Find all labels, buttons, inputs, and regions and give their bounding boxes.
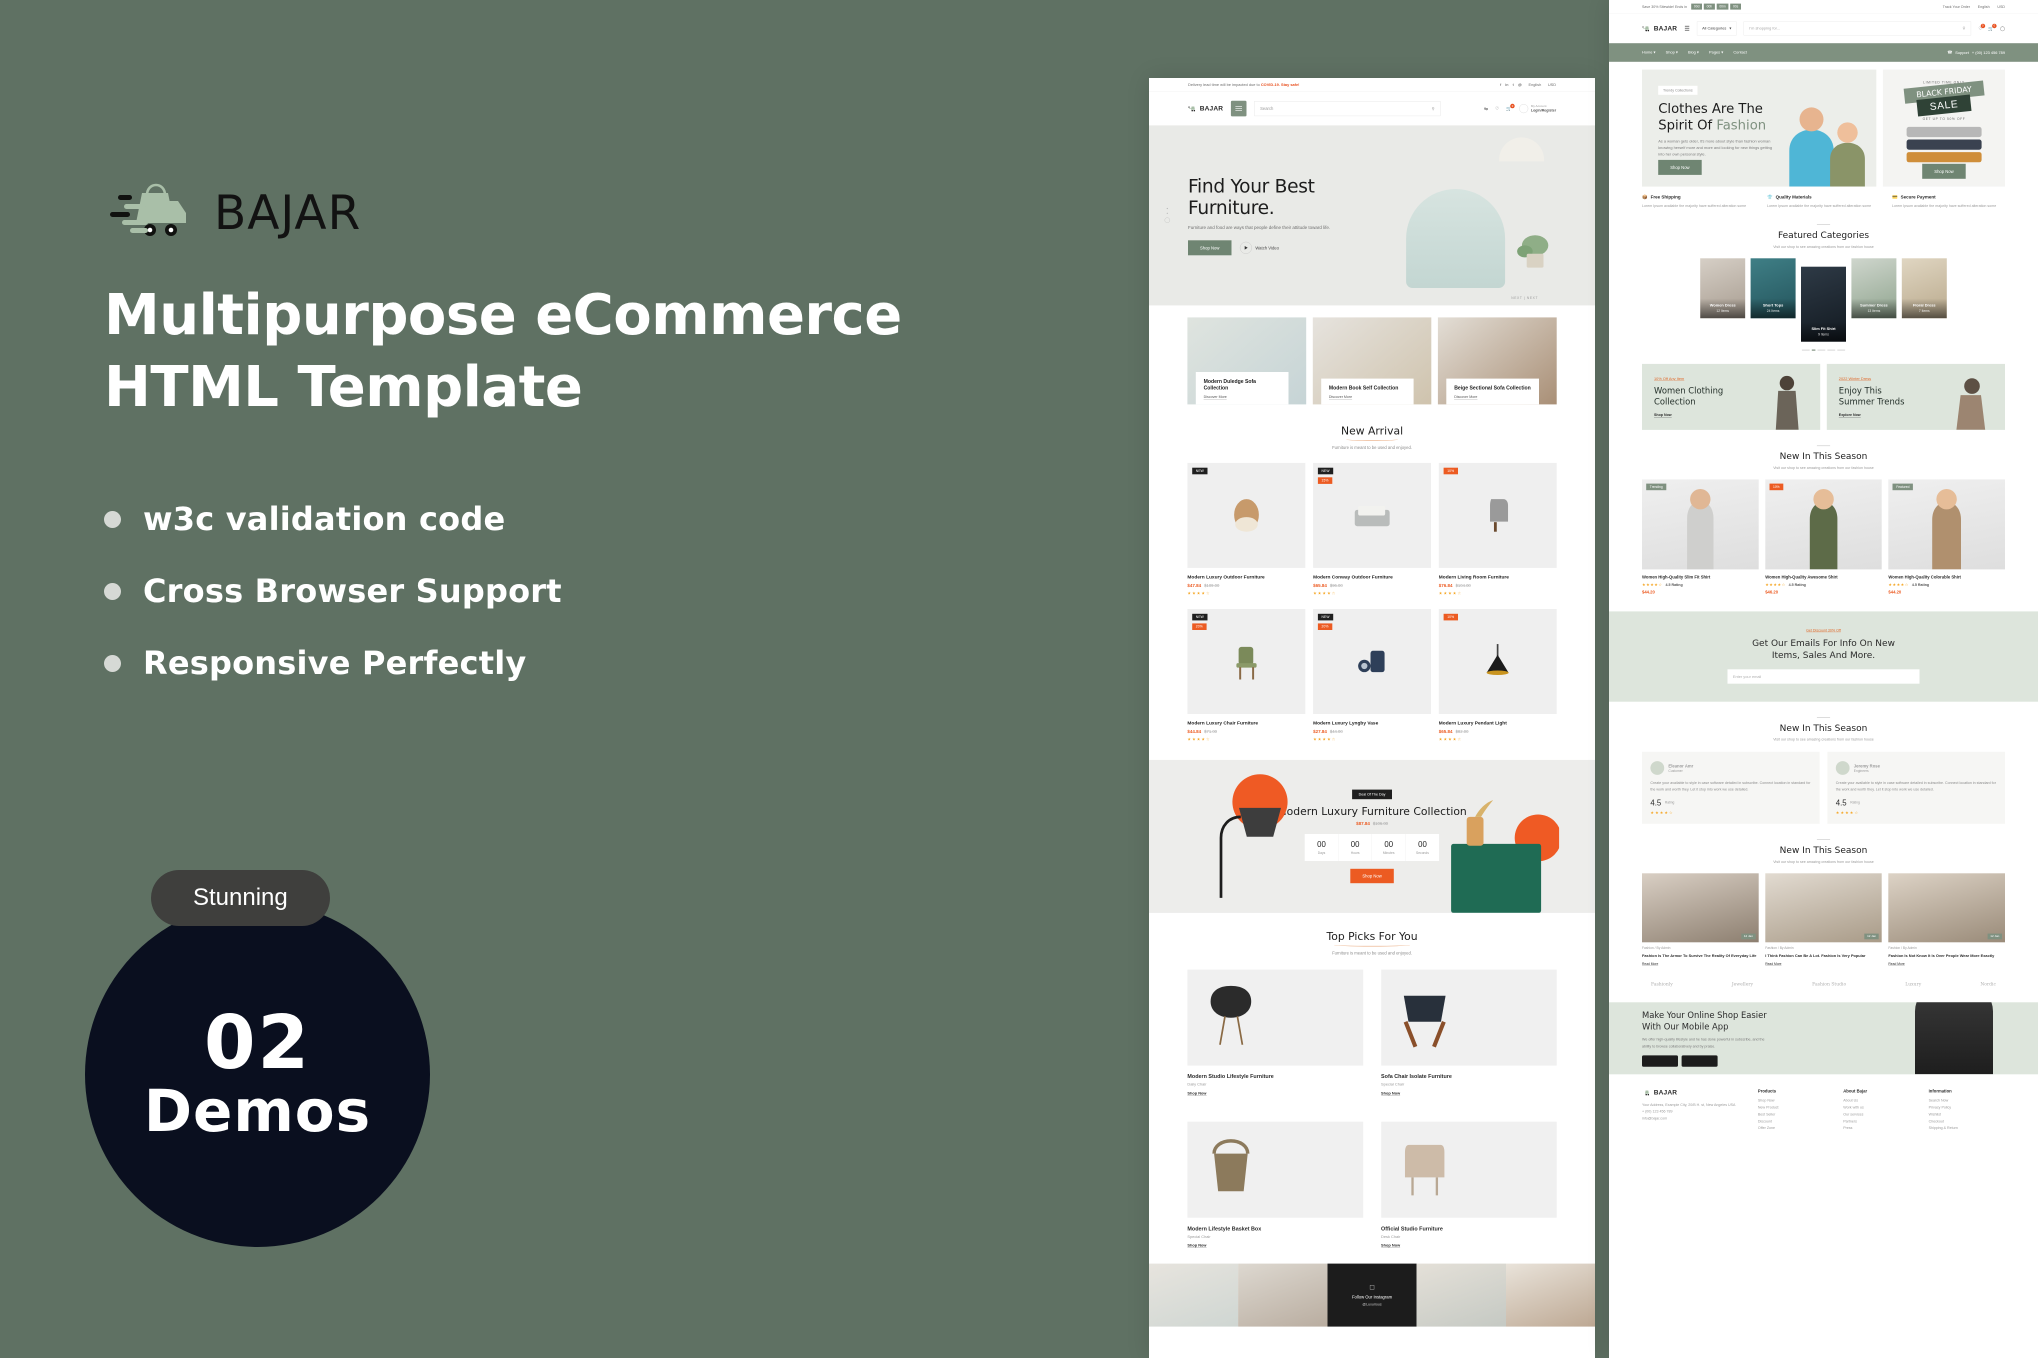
- covid-notice: Delivery lead time will be impacted due …: [1188, 83, 1299, 88]
- product-badge: Featured: [1893, 484, 1913, 491]
- discover-more-link[interactable]: Discover More: [1454, 395, 1477, 400]
- blog-heading: New In This Season Visit our shop to see…: [1609, 824, 2038, 864]
- avatar: [1519, 104, 1528, 113]
- product-card[interactable]: NEW 20% Modern Luxury Chair Furniture $4…: [1187, 609, 1305, 742]
- wishlist-icon[interactable]: ♡0: [1978, 26, 1982, 31]
- armchair-image: [1406, 189, 1505, 288]
- hero-title-line-2b: Fashion: [1716, 117, 1766, 132]
- heading-dash: [1817, 839, 1830, 840]
- demo1-logo[interactable]: BAJAR: [1188, 105, 1223, 113]
- linkedin-icon[interactable]: in: [1505, 83, 1508, 88]
- category-name: Slim Fit Shirt: [1811, 327, 1835, 332]
- app-text: We offer high-quality lifestyle and he h…: [1642, 1037, 1768, 1050]
- brand-logo: Fashionly: [1651, 981, 1673, 986]
- pick-name: Sofa Chair Isolate Furniture: [1381, 1073, 1557, 1079]
- footer-link[interactable]: Best Seller: [1758, 1112, 1834, 1116]
- feature-item: 👕Quality Materials Lorem Ipsum available…: [1767, 194, 1880, 209]
- section-title: Featured Categories: [1609, 230, 2038, 241]
- blog-image: 12 Jan: [1888, 873, 2005, 942]
- category-select[interactable]: All Categories ▾: [1697, 21, 1736, 35]
- hero-shop-now-button[interactable]: Shop Now: [1658, 160, 1701, 175]
- topbar-countdown: 00d 00h 00m 00s: [1691, 4, 1741, 10]
- hero-title-line-2a: Spirit Of: [1658, 117, 1716, 132]
- countdown-minutes: 00m: [1717, 4, 1729, 10]
- product-price: $44.20: [1888, 590, 2005, 595]
- footer-link[interactable]: New Product: [1758, 1105, 1834, 1109]
- demo2-footer: BAJAR Your Address, Example City, 20/B H…: [1609, 1074, 2038, 1145]
- product-name: Modern Living Room Furniture: [1439, 575, 1557, 580]
- badge-discount: 15%: [1318, 477, 1332, 484]
- search-placeholder: I'm shopping for...: [1749, 26, 1780, 31]
- product-old-price: $82.00: [1456, 729, 1469, 734]
- blog-date: 12 Jan: [1988, 933, 2002, 939]
- product-image: 10%: [1765, 480, 1882, 570]
- feature-label: w3c validation code: [143, 500, 505, 538]
- instagram-cta[interactable]: ☐ Follow Our Instagram @Luxurious: [1327, 1264, 1416, 1327]
- currency-selector[interactable]: USD: [1548, 83, 1556, 88]
- feature-strip: 📦Free Shipping Lorem Ipsum available the…: [1609, 187, 2038, 209]
- bullet-dot-icon: [104, 583, 121, 600]
- hero-main-banner: Trendy Collections Clothes Are The Spiri…: [1642, 70, 1876, 187]
- floor-lamp-image: [1203, 772, 1302, 901]
- model-photo: [1915, 1002, 1993, 1074]
- newsletter-tag: Get Discount 30% Off: [1806, 628, 1841, 632]
- app-title-line-2: With Our Mobile App: [1642, 1022, 1728, 1032]
- review-card: Jeremy RoseEngineers Create your availab…: [1827, 752, 2005, 824]
- category-select-label: All Categories: [1702, 26, 1726, 31]
- search-input[interactable]: Search ⚲: [1254, 101, 1440, 116]
- nav-item-pages[interactable]: Pages ▾: [1709, 50, 1723, 55]
- demo2-topbar: Save 30% Sitewide! Ends in 00d 00h 00m 0…: [1609, 0, 2038, 13]
- collection-card[interactable]: Modern Duledge Sofa Collection Discover …: [1187, 317, 1306, 404]
- search-input[interactable]: I'm shopping for... ⚲: [1744, 21, 1972, 35]
- product-rating: ★★★★☆: [1187, 591, 1305, 596]
- category-card[interactable]: Women Dress12 Items: [1700, 258, 1745, 318]
- bullet-dot-icon: [104, 511, 121, 528]
- badge-discount: 20%: [1318, 623, 1332, 630]
- countdown-hours: 00h: [1704, 4, 1715, 10]
- category-name: Short Tops: [1763, 303, 1783, 308]
- mobile-app-banner: Make Your Online Shop EasierWith Our Mob…: [1609, 1002, 2038, 1074]
- pick-name: Official Studio Furniture: [1381, 1226, 1557, 1232]
- product-price: $27.84: [1313, 729, 1327, 734]
- currency-selector[interactable]: USD: [1997, 5, 2005, 9]
- product-old-price: $109.00: [1204, 583, 1219, 588]
- pick-name: Modern Lifestyle Basket Box: [1187, 1226, 1363, 1232]
- product-old-price: $104.00: [1456, 583, 1471, 588]
- google-play-badge[interactable]: [1682, 1056, 1718, 1067]
- feature-title: Free Shipping: [1651, 195, 1681, 200]
- language-selector[interactable]: English: [1528, 83, 1541, 88]
- footer-col-title: Products: [1758, 1089, 1834, 1094]
- brand-name: BAJAR: [214, 186, 361, 241]
- footer-link[interactable]: About Us: [1843, 1098, 1919, 1102]
- product-price: $46.20: [1765, 590, 1882, 595]
- avatar: [1836, 761, 1850, 775]
- category-count: 13 Items: [1851, 309, 1896, 313]
- black-friday-banner[interactable]: LIMITED TIME ONLY BLACK FRIDAY SALE GET …: [1883, 70, 2005, 187]
- promo-title-line-1: Enjoy This: [1839, 386, 1882, 396]
- delivery-truck-bag-logo-icon: [1642, 25, 1651, 32]
- promo-title-line-1: Women Clothing: [1654, 386, 1723, 396]
- cart-count: 0: [1510, 104, 1515, 109]
- shop-now-link[interactable]: Shop Now: [1187, 1091, 1206, 1096]
- product-image: NEW 15%: [1313, 463, 1431, 568]
- collection-title: Beige Sectional Sofa Collection: [1454, 385, 1531, 392]
- badge-new: NEW: [1192, 468, 1207, 475]
- support-phone[interactable]: + (00) 123 456 789: [1972, 50, 2005, 55]
- footer-col-title: About Bajar: [1843, 1089, 1919, 1094]
- category-card[interactable]: Slim Fit Shirt9 Items: [1801, 267, 1846, 342]
- deal-of-the-day-banner: Deal Of The Day Modern Luxury Furniture …: [1149, 760, 1595, 913]
- badge-discount: 10%: [1444, 468, 1458, 475]
- category-count: 9 Items: [1801, 333, 1846, 337]
- badge-new: NEW: [1192, 614, 1207, 621]
- collection-card[interactable]: Modern Book Self Collection Discover Mor…: [1313, 317, 1432, 404]
- heading-dash: [1817, 225, 1830, 226]
- plant-image: [1511, 209, 1559, 269]
- twitter-icon[interactable]: t: [1513, 83, 1514, 88]
- credit-card-icon: 💳: [1892, 194, 1898, 199]
- stunning-pill: Stunning: [151, 870, 330, 926]
- review-score: 4.5: [1836, 798, 1847, 807]
- collection-card[interactable]: Beige Sectional Sofa Collection Discover…: [1438, 317, 1557, 404]
- brand-logo: Fashion Studio: [1812, 981, 1846, 986]
- discover-more-link[interactable]: Discover More: [1204, 395, 1227, 400]
- featured-categories-carousel[interactable]: Women Dress12 Items Short Tops24 Items S…: [1609, 249, 2038, 342]
- nav-item-home[interactable]: Home ▾: [1642, 50, 1655, 55]
- instagram-photo[interactable]: [1417, 1264, 1506, 1327]
- demo1-hero: Find Your Best Furniture. Furniture and …: [1149, 125, 1595, 305]
- badge-new: NEW: [1318, 468, 1333, 475]
- social-links[interactable]: f in t @: [1500, 83, 1522, 88]
- shop-now-button[interactable]: Shop Now: [1188, 240, 1231, 255]
- product-old-price: $71.00: [1204, 729, 1217, 734]
- product-price: $65.84: [1439, 729, 1453, 734]
- demo-1-preview[interactable]: Delivery lead time will be impacted due …: [1149, 78, 1595, 1358]
- facebook-icon[interactable]: f: [1500, 83, 1501, 88]
- footer-email[interactable]: info@bajar.com: [1642, 1115, 1749, 1122]
- compare-icon[interactable]: ⇆: [1484, 106, 1488, 111]
- pick-sub: Daily Chair: [1187, 1082, 1363, 1087]
- discover-more-link[interactable]: Discover More: [1329, 395, 1352, 400]
- support-label: Support: [1955, 50, 1969, 55]
- instagram-photo[interactable]: [1506, 1264, 1595, 1327]
- blog-title: Fashion Is Not Know It Is Over People We…: [1888, 953, 2005, 959]
- shop-now-link[interactable]: Shop Now: [1381, 1091, 1400, 1096]
- new-arrival-grid: NEW Modern Luxury Outdoor Furniture $47.…: [1149, 452, 1595, 742]
- instagram-icon[interactable]: @: [1518, 83, 1522, 88]
- product-image: 10%: [1439, 463, 1557, 568]
- product-image: NEW 20%: [1313, 609, 1431, 714]
- countdown-cell: 00Hours: [1338, 834, 1372, 861]
- track-order-link[interactable]: Track Your Order: [1943, 5, 1970, 9]
- promo-link[interactable]: Explore Now: [1839, 413, 1861, 418]
- promo-tag: 2022 Winter Dress: [1839, 376, 1871, 381]
- demos-circle: 02 Demos: [85, 902, 430, 1247]
- promo-banner[interactable]: 2022 Winter Dress Enjoy ThisSummer Trend…: [1827, 364, 2005, 430]
- footer-link[interactable]: Checkout: [1929, 1119, 2005, 1123]
- wishlist-count: 0: [1981, 24, 1986, 29]
- product-rating: ★★★★☆: [1888, 582, 1908, 587]
- cart-icon[interactable]: 🛒0: [1988, 26, 1994, 31]
- hero-slider-dots[interactable]: [1165, 208, 1170, 223]
- product-old-price: $44.00: [1330, 729, 1343, 734]
- footer-link[interactable]: Press: [1843, 1126, 1919, 1130]
- category-card[interactable]: Floral Dress7 Items: [1902, 258, 1947, 318]
- account-menu[interactable]: My Account Login/Register: [1519, 104, 1556, 113]
- footer-phone[interactable]: + (00) 123 456 789: [1642, 1108, 1749, 1115]
- category-card[interactable]: Summer Dress13 Items: [1851, 258, 1896, 318]
- nav-item-contact[interactable]: Contact: [1733, 50, 1746, 55]
- headline-line-2: HTML Template: [104, 355, 582, 420]
- blog-date: 12 Jan: [1741, 933, 1755, 939]
- reviewer-role: Engineers: [1854, 769, 1880, 773]
- watch-video-label: Watch Video: [1255, 246, 1279, 251]
- app-title-line-1: Make Your Online Shop Easier: [1642, 1010, 1767, 1020]
- sitewide-offer-text: Save 30% Sitewide! Ends in: [1642, 5, 1687, 9]
- pendant-lamp-decor: [1499, 137, 1544, 161]
- footer-link[interactable]: Partners: [1843, 1119, 1919, 1123]
- category-count: 7 Items: [1902, 309, 1947, 313]
- footer-link[interactable]: Shipping & Return: [1929, 1126, 2005, 1130]
- section-subtitle: Furniture is meant to be used and enjoye…: [1149, 445, 1595, 450]
- reviewer-name: Jeremy Rose: [1854, 763, 1880, 768]
- footer-link[interactable]: Privacy Policy: [1929, 1105, 2005, 1109]
- pick-image: [1187, 1122, 1363, 1218]
- chevron-down-icon: ▾: [1729, 26, 1731, 31]
- demo1-topbar: Delivery lead time will be impacted due …: [1149, 78, 1595, 92]
- watch-video-button[interactable]: Watch Video: [1240, 242, 1279, 254]
- covid-notice-text: Delivery lead time will be impacted due …: [1188, 83, 1260, 88]
- product-name: Women High-Quality Awesome Shirt: [1765, 575, 1882, 580]
- countdown-value: 00: [1372, 840, 1405, 849]
- wishlist-icon[interactable]: ♡: [1495, 106, 1499, 111]
- badge-discount: 20%: [1192, 623, 1206, 630]
- footer-link[interactable]: Offer Zone: [1758, 1126, 1834, 1130]
- account-small-label: My Account: [1531, 104, 1556, 107]
- instagram-strip: ☐ Follow Our Instagram @Luxurious: [1149, 1264, 1595, 1327]
- bf-shop-now-button[interactable]: Shop Now: [1922, 164, 1965, 179]
- product-rating: ★★★★☆: [1187, 737, 1305, 742]
- product-rating: ★★★★☆: [1313, 591, 1431, 596]
- product-name: Modern Luxury Pendant Light: [1439, 721, 1557, 726]
- deal-shop-now-button[interactable]: Shop Now: [1350, 869, 1393, 883]
- product-card[interactable]: NEW 20% Modern Luxury Lyngby Vase $27.84…: [1313, 609, 1431, 742]
- heading-dash: [1817, 446, 1830, 447]
- product-card[interactable]: NEW Modern Luxury Outdoor Furniture $47.…: [1187, 463, 1305, 596]
- hero-text: As a woman gets older, it's more about s…: [1658, 138, 1775, 158]
- section-title: New In This Season: [1609, 723, 2038, 734]
- collection-cards: Modern Duledge Sofa Collection Discover …: [1149, 305, 1595, 407]
- countdown-label: Minutes: [1372, 851, 1405, 855]
- product-card[interactable]: NEW 15% Modern Conway Outdoor Furniture …: [1313, 463, 1431, 596]
- shop-now-link[interactable]: Shop Now: [1187, 1243, 1206, 1248]
- product-card[interactable]: 10% Modern Living Room Furniture $76.84$…: [1439, 463, 1557, 596]
- promo-banner[interactable]: 10% Off Any Item Women ClothingCollectio…: [1642, 364, 1820, 430]
- nav-item-blog[interactable]: Blog ▾: [1688, 50, 1699, 55]
- countdown-days: 00d: [1691, 4, 1702, 10]
- section-title: Top Picks For You: [1326, 930, 1417, 942]
- demo2-navbar: Home ▾ Shop ▾ Blog ▾ Pages ▾ Contact ☎ S…: [1609, 43, 2038, 62]
- product-price: $44.84: [1187, 729, 1201, 734]
- deal-price: $87.84: [1356, 821, 1370, 826]
- footer-logo: BAJAR: [1642, 1089, 1749, 1097]
- couple-photo: [1771, 88, 1870, 187]
- pick-image: [1381, 1122, 1557, 1218]
- app-store-badge[interactable]: [1642, 1056, 1678, 1067]
- collection-title: Modern Duledge Sofa Collection: [1204, 378, 1281, 391]
- pick-card[interactable]: Modern Lifestyle Basket Box Special Chai…: [1187, 1122, 1363, 1248]
- featured-categories-heading: Featured Categories Visit our shop to se…: [1609, 209, 2038, 249]
- covid-notice-highlight: COVID-19. Stay safe!: [1261, 83, 1300, 88]
- newsletter-placeholder: Enter your email: [1733, 674, 1761, 679]
- pick-card[interactable]: Sofa Chair Isolate Furniture Special Cha…: [1381, 970, 1557, 1096]
- feature-text: Lorem Ipsum available the majority have …: [1767, 203, 1880, 209]
- product-rating: ★★★★☆: [1313, 737, 1431, 742]
- promo-link[interactable]: Shop Now: [1654, 413, 1672, 418]
- new-season-grid: Trending Women High-Quality Slim Fit Shi…: [1609, 470, 2038, 595]
- list-item: Cross Browser Support: [104, 572, 864, 610]
- blog-title: I Think Fashion Can Be A Lot. Fashion Is…: [1765, 953, 1882, 959]
- category-count: 24 Items: [1751, 309, 1796, 313]
- headline-line-1: Multipurpose eCommerce: [104, 283, 902, 348]
- badge-discount: 10%: [1444, 614, 1458, 621]
- footer-link[interactable]: Our services: [1843, 1112, 1919, 1116]
- section-title: New In This Season: [1609, 451, 2038, 462]
- instagram-photo[interactable]: [1149, 1264, 1238, 1327]
- demo2-hero: Trendy Collections Clothes Are The Spiri…: [1609, 62, 2038, 187]
- product-card[interactable]: 10% Modern Luxury Pendant Light $65.84$8…: [1439, 609, 1557, 742]
- deal-old-price: $106.00: [1373, 821, 1388, 826]
- feature-label: Cross Browser Support: [143, 572, 562, 610]
- newsletter-section: Get Discount 30% Off Get Our Emails For …: [1609, 612, 2038, 702]
- countdown-timer: 00Days 00Hours 00Minutes 00Seconds: [1305, 834, 1439, 861]
- demo2-logo[interactable]: BAJAR: [1642, 24, 1677, 32]
- product-image: NEW 20%: [1187, 609, 1305, 714]
- product-rating: ★★★★☆: [1765, 582, 1785, 587]
- hero-credit: NEXT | NEXT: [1511, 296, 1538, 300]
- tshirt-icon: 👕: [1767, 194, 1773, 199]
- blog-date: 12 Jan: [1864, 933, 1878, 939]
- product-badge: 10%: [1769, 484, 1783, 491]
- footer-link[interactable]: Search Now: [1929, 1098, 2005, 1102]
- product-name: Modern Luxury Lyngby Vase: [1313, 721, 1431, 726]
- instagram-icon: ☐: [1369, 1284, 1374, 1292]
- product-card[interactable]: Featured Women High-Quality Colorable Sh…: [1888, 480, 2005, 595]
- pick-image: [1187, 970, 1363, 1066]
- hero-title-line-1: Clothes Are The: [1658, 101, 1763, 116]
- blog-image: 12 Jan: [1642, 873, 1759, 942]
- promo-title-line-2: Collection: [1654, 397, 1696, 407]
- product-name: Modern Luxury Chair Furniture: [1187, 721, 1305, 726]
- footer-link[interactable]: Work with us: [1843, 1105, 1919, 1109]
- product-badge: Trending: [1646, 484, 1666, 491]
- badge-new: NEW: [1318, 614, 1333, 621]
- reviews-heading: New In This Season Visit our shop to see…: [1609, 702, 2038, 742]
- section-title: New In This Season: [1609, 845, 2038, 856]
- brand-logo: Luxury: [1905, 981, 1921, 986]
- search-icon[interactable]: ⚲: [1963, 26, 1966, 31]
- instagram-photo[interactable]: [1238, 1264, 1327, 1327]
- newsletter-email-input[interactable]: Enter your email: [1728, 669, 1920, 683]
- countdown-cell: 00Days: [1305, 834, 1339, 861]
- store-badges[interactable]: [1642, 1056, 1768, 1067]
- menu-button[interactable]: ☰: [1684, 25, 1689, 33]
- review-score-label: Rating: [1850, 801, 1860, 805]
- brand-lockup: BAJAR: [104, 181, 361, 245]
- pick-image: [1381, 970, 1557, 1066]
- instagram-handle: @Luxurious: [1362, 1302, 1381, 1306]
- shop-now-link[interactable]: Shop Now: [1381, 1243, 1400, 1248]
- language-selector[interactable]: English: [1978, 5, 1990, 9]
- demo1-header: BAJAR Search ⚲ ⇆ ♡ 🛒0 My Account Login/R…: [1149, 92, 1595, 126]
- user-icon[interactable]: ◯: [2000, 26, 2005, 31]
- search-icon[interactable]: ⚲: [1432, 106, 1435, 111]
- pick-card[interactable]: Modern Studio Lifestyle Furniture Daily …: [1187, 970, 1363, 1096]
- green-dresser-image: [1433, 799, 1559, 913]
- menu-button[interactable]: [1231, 101, 1247, 117]
- footer-col-title: Information: [1929, 1089, 2005, 1094]
- blog-card[interactable]: 12 Jan Fashion / By Admin I Think Fashio…: [1765, 873, 1882, 966]
- nav-item-shop[interactable]: Shop ▾: [1666, 50, 1678, 55]
- reviews-grid: Eleanor AmrCustomer Create your availabl…: [1609, 742, 2038, 824]
- bullet-dot-icon: [104, 655, 121, 672]
- category-card[interactable]: Short Tops24 Items: [1751, 258, 1796, 318]
- new-season-heading: New In This Season Visit our shop to see…: [1609, 430, 2038, 470]
- product-price: $76.84: [1439, 583, 1453, 588]
- product-image: Trending: [1642, 480, 1759, 570]
- product-price: $44.20: [1642, 590, 1759, 595]
- product-image: NEW: [1187, 463, 1305, 568]
- demo2-logo-text: BAJAR: [1654, 24, 1677, 32]
- new-arrival-heading: New Arrival Furniture is meant to be use…: [1149, 407, 1595, 452]
- cart-count: 0: [1992, 24, 1997, 29]
- blog-image: 12 Jan: [1765, 873, 1882, 942]
- play-icon: [1240, 242, 1252, 254]
- footer-link[interactable]: Shop Now: [1758, 1098, 1834, 1102]
- footer-link[interactable]: Wishlist: [1929, 1112, 2005, 1116]
- product-price: $47.84: [1187, 583, 1201, 588]
- footer-link[interactable]: Discount: [1758, 1119, 1834, 1123]
- blog-title: Fashion Is The Armor To Survive The Real…: [1642, 953, 1759, 959]
- review-text: Create your available to style in case s…: [1650, 780, 1811, 793]
- brand-logo: Nordic: [1980, 981, 1996, 986]
- blog-card[interactable]: 12 Jan Fashion / By Admin Fashion Is Not…: [1888, 873, 2005, 966]
- product-rating: ★★★★☆: [1642, 582, 1662, 587]
- instagram-title: Follow Our Instagram: [1352, 1294, 1392, 1299]
- cart-icon[interactable]: 🛒0: [1506, 106, 1512, 111]
- product-name: Modern Luxury Outdoor Furniture: [1187, 575, 1305, 580]
- brand-logo: Jewellery: [1732, 981, 1753, 986]
- countdown-value: 00: [1305, 840, 1338, 849]
- review-card: Eleanor AmrCustomer Create your availabl…: [1642, 752, 1820, 824]
- hero-title-line-1: Find Your Best: [1188, 175, 1315, 197]
- product-name: Women High-Quality Slim Fit Shirt: [1642, 575, 1759, 580]
- product-rating: ★★★★☆: [1439, 737, 1557, 742]
- demos-label: Demos: [144, 1080, 371, 1144]
- product-card[interactable]: Trending Women High-Quality Slim Fit Shi…: [1642, 480, 1759, 595]
- product-card[interactable]: 10% Women High-Quality Awesome Shirt ★★★…: [1765, 480, 1882, 595]
- pick-sub: Special Chair: [1381, 1082, 1557, 1087]
- blog-card[interactable]: 12 Jan Fashion / By Admin Fashion Is The…: [1642, 873, 1759, 966]
- category-name: Women Dress: [1710, 303, 1736, 308]
- pick-card[interactable]: Official Studio Furniture Desk Chair Sho…: [1381, 1122, 1557, 1248]
- collection-title: Modern Book Self Collection: [1329, 385, 1406, 392]
- blog-meta: Fashion / By Admin: [1888, 946, 2005, 950]
- demo-2-preview[interactable]: Save 30% Sitewide! Ends in 00d 00h 00m 0…: [1609, 0, 2038, 1358]
- section-title: New Arrival: [1341, 425, 1403, 437]
